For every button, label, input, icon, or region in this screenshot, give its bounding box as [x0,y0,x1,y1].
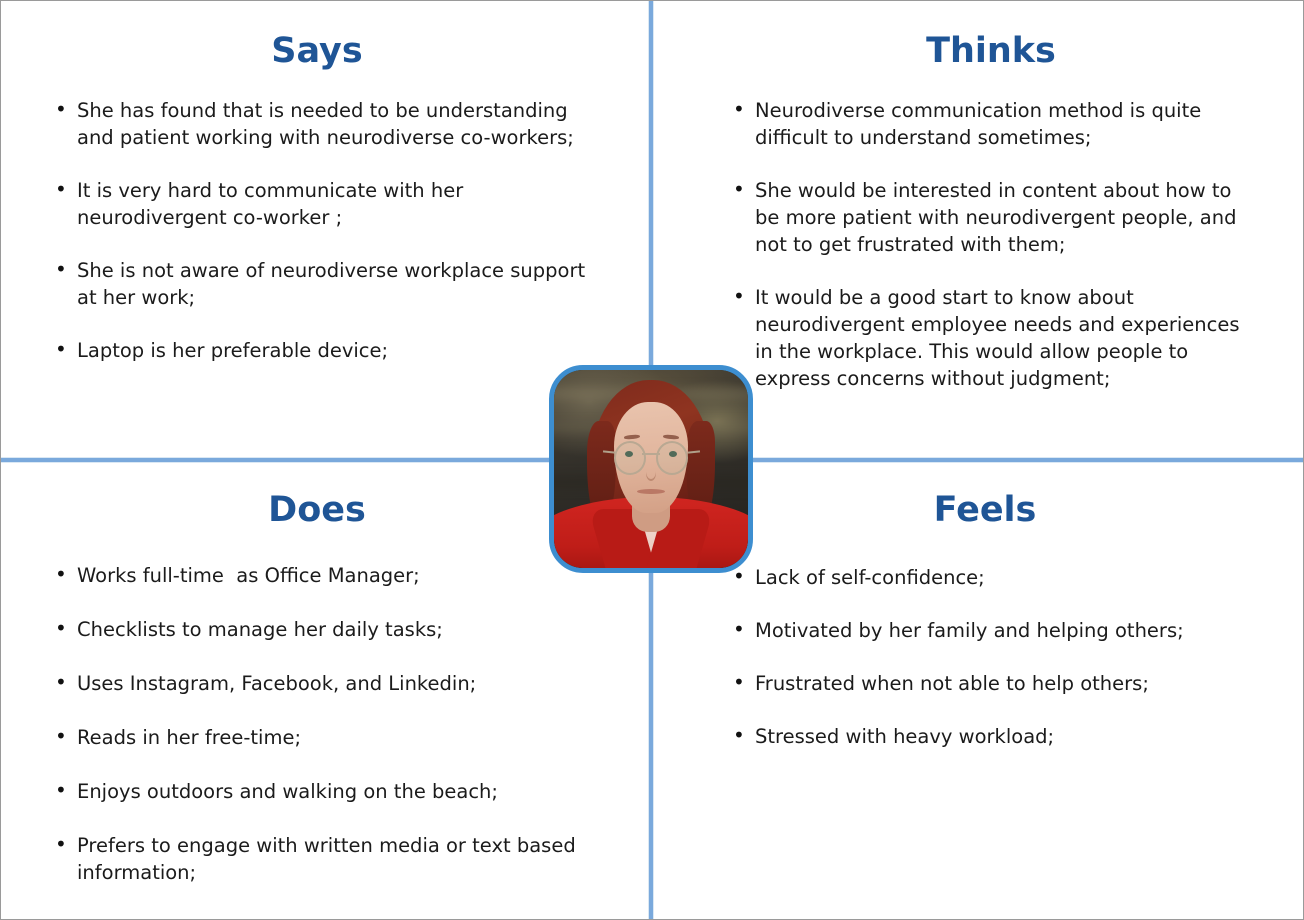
quadrant-title-does: Does [31,490,603,530]
glasses-lens-left-icon [614,441,646,475]
list-item: It would be a good start to know about n… [725,284,1257,392]
bullet-list-thinks: Neurodiverse communication method is qui… [725,97,1257,392]
portrait-image [554,370,748,568]
portrait-nose [646,465,656,481]
list-item: Stressed with heavy workload; [725,723,1257,750]
list-item: Neurodiverse communication method is qui… [725,97,1257,151]
persona-portrait [549,365,753,573]
bullet-list-says: She has found that is needed to be under… [47,97,603,364]
list-item: Works full-time as Office Manager; [47,562,603,589]
list-item: She is not aware of neurodiverse workpla… [47,257,603,311]
list-item: It is very hard to communicate with her … [47,177,603,231]
bullet-list-does: Works full-time as Office Manager; Check… [47,562,603,886]
bullet-list-feels: Lack of self-confidence; Motivated by he… [725,564,1257,750]
list-item: Reads in her free-time; [47,724,603,751]
list-item: Uses Instagram, Facebook, and Linkedin; [47,670,603,697]
list-item: Enjoys outdoors and walking on the beach… [47,778,603,805]
list-item: Frustrated when not able to help others; [725,670,1257,697]
quadrant-title-feels: Feels [713,490,1257,530]
portrait-mouth [637,489,664,494]
quadrant-title-says: Says [31,31,603,71]
list-item: Lack of self-confidence; [725,564,1257,591]
list-item: Motivated by her family and helping othe… [725,617,1257,644]
glasses-bridge-icon [642,453,659,455]
glasses-lens-right-icon [656,441,688,475]
list-item: Prefers to engage with written media or … [47,832,603,886]
list-item: She would be interested in content about… [725,177,1257,258]
list-item: Laptop is her preferable device; [47,337,603,364]
quadrant-title-thinks: Thinks [725,31,1257,71]
list-item: Checklists to manage her daily tasks; [47,616,603,643]
empathy-map-board: Says She has found that is needed to be … [0,0,1304,920]
list-item: She has found that is needed to be under… [47,97,603,151]
